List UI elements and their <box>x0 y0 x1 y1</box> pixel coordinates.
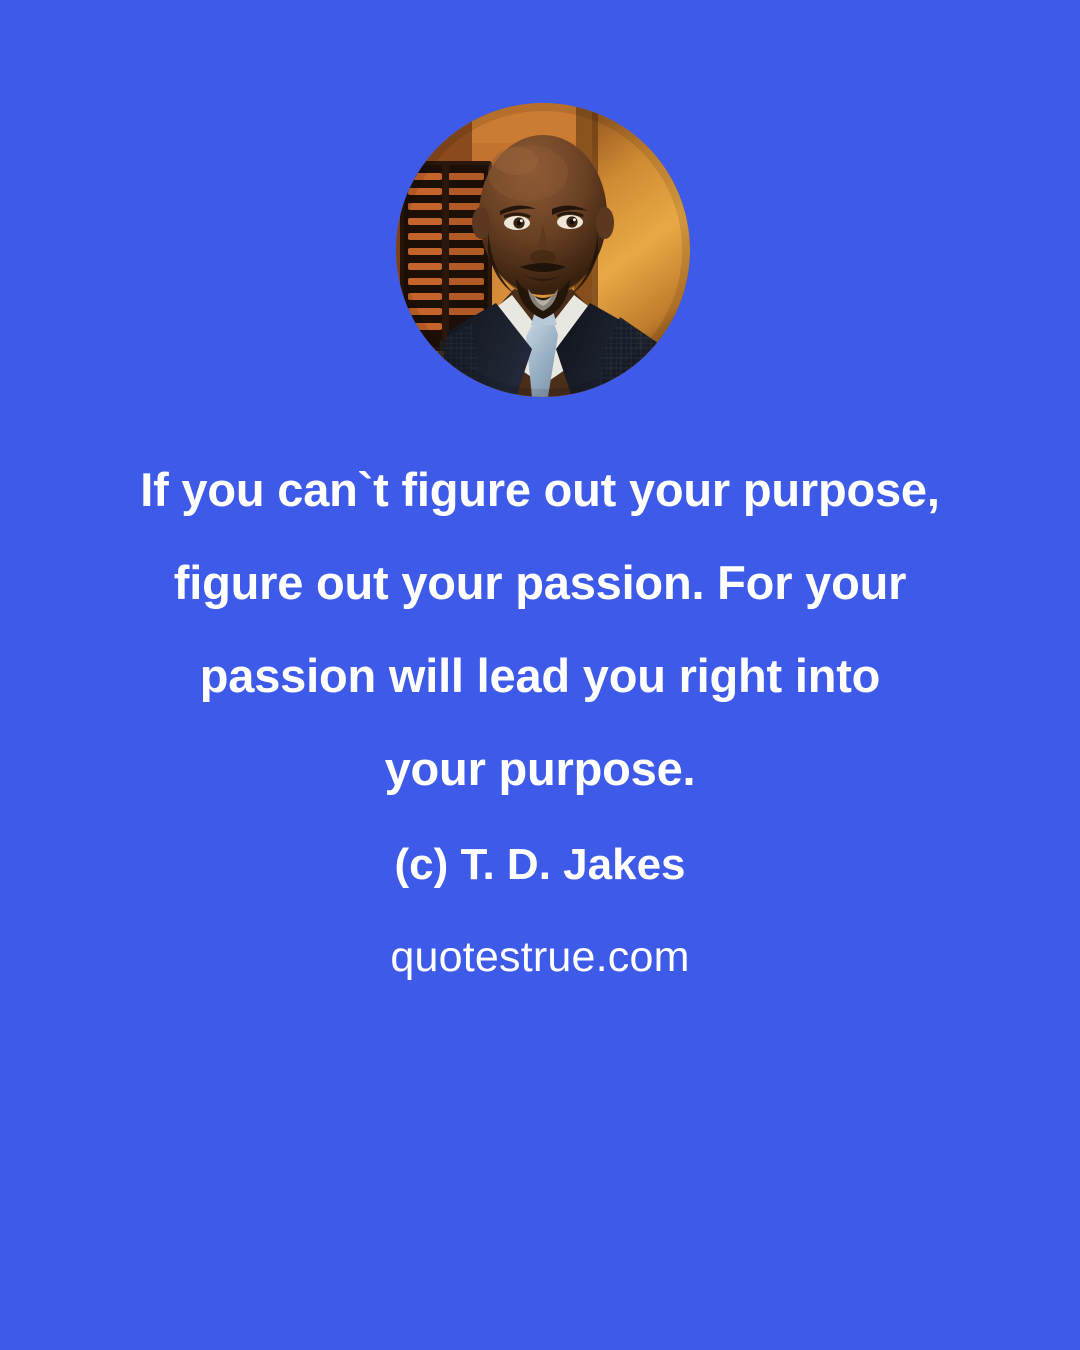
quote-card: If you can`t figure out your purpose, fi… <box>0 0 1080 1350</box>
quote-line-4: your purpose. <box>110 722 970 815</box>
quote-line-1: If you can`t figure out your purpose, <box>110 443 970 536</box>
portrait-photo-icon <box>396 103 690 397</box>
avatar-wrapper <box>396 103 690 397</box>
quote-text: If you can`t figure out your purpose, fi… <box>0 443 1080 815</box>
quote-attribution: (c) T. D. Jakes <box>0 836 1080 894</box>
quote-line-2: figure out your passion. For your <box>110 536 970 629</box>
avatar <box>396 103 690 397</box>
source-website: quotestrue.com <box>0 928 1080 986</box>
quote-line-3: passion will lead you right into <box>110 629 970 722</box>
